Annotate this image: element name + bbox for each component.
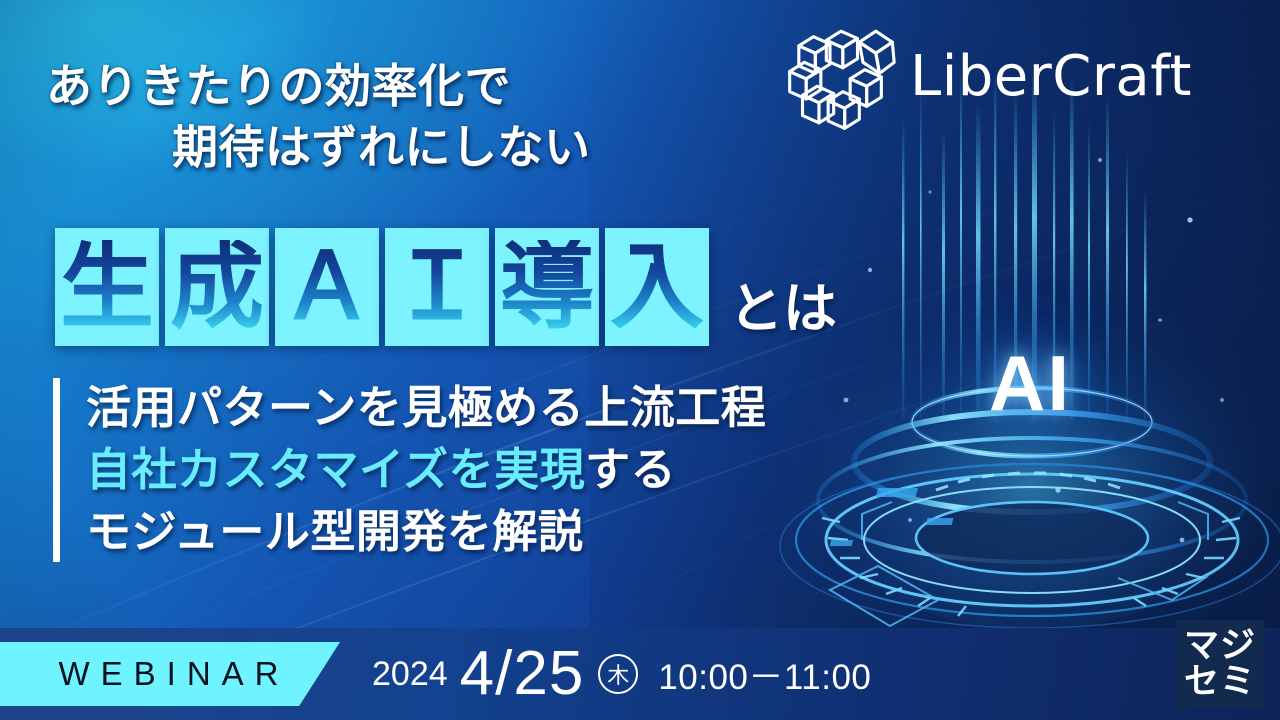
webinar-label: WEBINAR bbox=[50, 655, 289, 693]
cubes-icon bbox=[786, 22, 896, 132]
brand-logo: LiberCraft bbox=[786, 22, 1192, 132]
title-char-6: 入 bbox=[610, 240, 704, 334]
title-box-5: 導 bbox=[495, 228, 599, 346]
title-suffix: とは bbox=[729, 282, 837, 346]
title-char-4: Ｉ bbox=[391, 241, 483, 333]
title-char-1: 生 bbox=[60, 240, 154, 334]
subtitle-line-1: 活用パターンを見極める上流工程 bbox=[86, 378, 766, 438]
badge-line-2: セミ bbox=[1184, 664, 1256, 700]
title-char-5: 導 bbox=[500, 240, 594, 334]
logo-wordmark: LiberCraft bbox=[910, 49, 1192, 105]
majisemi-badge: マジ セミ bbox=[1176, 620, 1264, 708]
main-title: 生 成 Ａ Ｉ 導 入 とは bbox=[55, 228, 837, 346]
event-day-of-week: 木 bbox=[598, 654, 638, 694]
title-box-6: 入 bbox=[605, 228, 709, 346]
badge-line-1: マジ bbox=[1184, 628, 1256, 664]
title-box-1: 生 bbox=[55, 228, 159, 346]
ai-hologram-icon: AI bbox=[770, 70, 1280, 670]
subtitle-block: 活用パターンを見極める上流工程 自社カスタマイズを実現する モジュール型開発を解… bbox=[53, 378, 766, 562]
footer-bar: WEBINAR 2024 4/25 木 10:00－11:00 bbox=[0, 628, 1280, 720]
subtitle-line-2-rest: する bbox=[585, 444, 676, 495]
webinar-tag: WEBINAR bbox=[0, 642, 340, 706]
lead-copy: ありきたりの効率化で 期待はずれにしない bbox=[0, 56, 700, 177]
subtitle-line-2-highlight: 自社カスタマイズを実現 bbox=[86, 444, 585, 495]
webinar-banner: AI LiberCraft ありきた bbox=[0, 0, 1280, 720]
event-year: 2024 bbox=[372, 655, 448, 694]
title-box-2: 成 bbox=[165, 228, 269, 346]
lead-line-1: ありきたりの効率化で bbox=[46, 56, 700, 117]
lead-line-2: 期待はずれにしない bbox=[172, 117, 700, 178]
title-box-4: Ｉ bbox=[385, 228, 489, 346]
event-datetime: 2024 4/25 木 10:00－11:00 bbox=[372, 628, 871, 720]
event-time: 10:00－11:00 bbox=[658, 649, 871, 700]
title-char-3: Ａ bbox=[281, 241, 373, 333]
title-char-2: 成 bbox=[170, 240, 264, 334]
subtitle-line-3: モジュール型開発を解説 bbox=[86, 502, 766, 562]
subtitle-line-2: 自社カスタマイズを実現する bbox=[86, 440, 766, 500]
subtitle-accent-bar bbox=[53, 378, 60, 562]
title-box-3: Ａ bbox=[275, 228, 379, 346]
ai-label: AI bbox=[989, 338, 1071, 429]
event-month-day: 4/25 bbox=[460, 643, 585, 705]
